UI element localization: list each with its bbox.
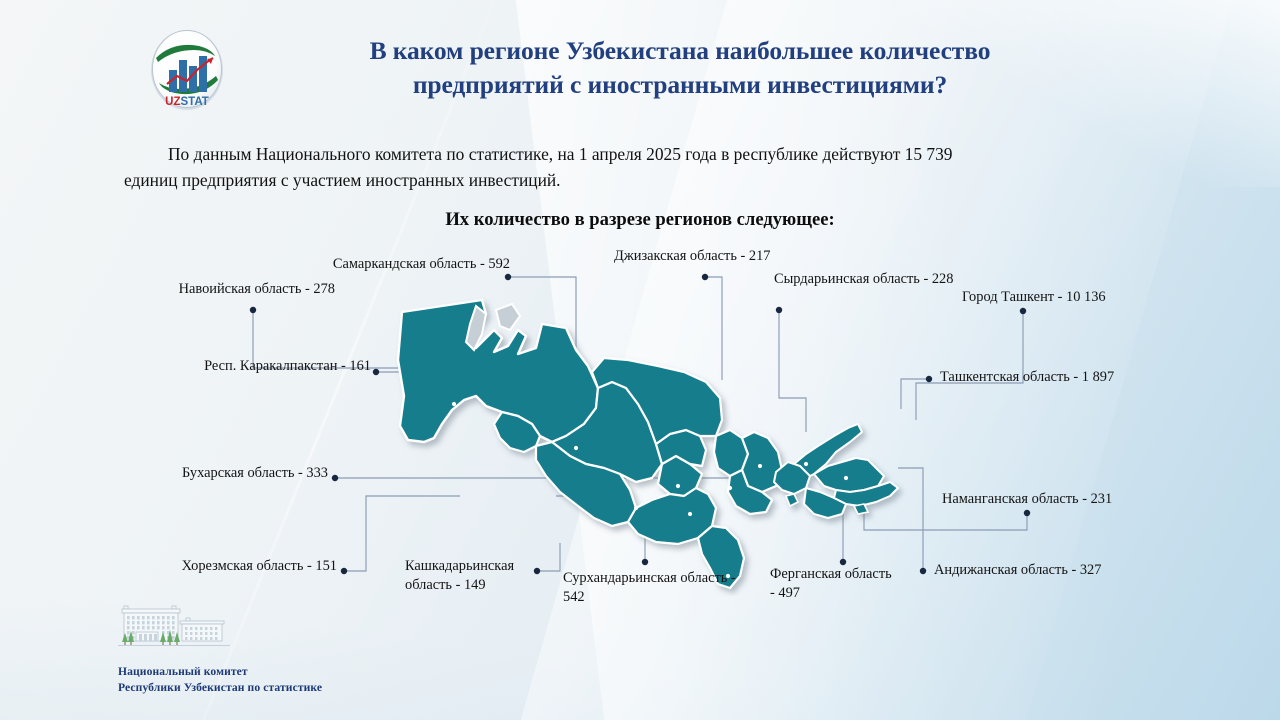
callout-tashkent-city[interactable]: Город Ташкент - 10 136: [962, 288, 1137, 307]
statistics-building-icon: [114, 596, 282, 658]
callout-kashkadarya[interactable]: Кашкадарьинская область - 149: [405, 557, 530, 596]
callout-andijan[interactable]: Андижанская область - 327: [934, 561, 1149, 580]
callout-karakalpakstan[interactable]: Респ. Каракалпакстан - 161: [178, 357, 371, 376]
uzbekistan-map: [390, 296, 950, 596]
aral-sea-notch-2: [496, 304, 520, 330]
callout-tashkent-region[interactable]: Ташкентская область - 1 897: [940, 368, 1155, 387]
callout-namangan[interactable]: Наманганская область - 231: [942, 490, 1157, 509]
callout-bukhara[interactable]: Бухарская область - 333: [150, 464, 328, 483]
footer-line2: Республики Узбекистан по статистике: [118, 680, 408, 696]
callout-syrdarya[interactable]: Сырдарьинская область - 228: [774, 270, 989, 289]
footer-line1: Национальный комитет: [118, 664, 408, 680]
callout-fergana[interactable]: Ферганская область - 497: [770, 565, 915, 604]
callout-navoi[interactable]: Навоийская область - 278: [160, 280, 335, 299]
footer-organization-name: Национальный комитет Республики Узбекист…: [118, 664, 408, 697]
callout-khorezm[interactable]: Хорезмская область - 151: [150, 557, 337, 576]
callout-samarkand[interactable]: Самаркандская область - 592: [325, 255, 510, 274]
footer-branding: Национальный комитет Республики Узбекист…: [108, 596, 408, 697]
callout-surkhandarya[interactable]: Сурхандарьинская область - 542: [563, 569, 758, 608]
map-enclave-1: [786, 494, 798, 506]
callout-jizzakh[interactable]: Джизакская область - 217: [614, 247, 794, 266]
